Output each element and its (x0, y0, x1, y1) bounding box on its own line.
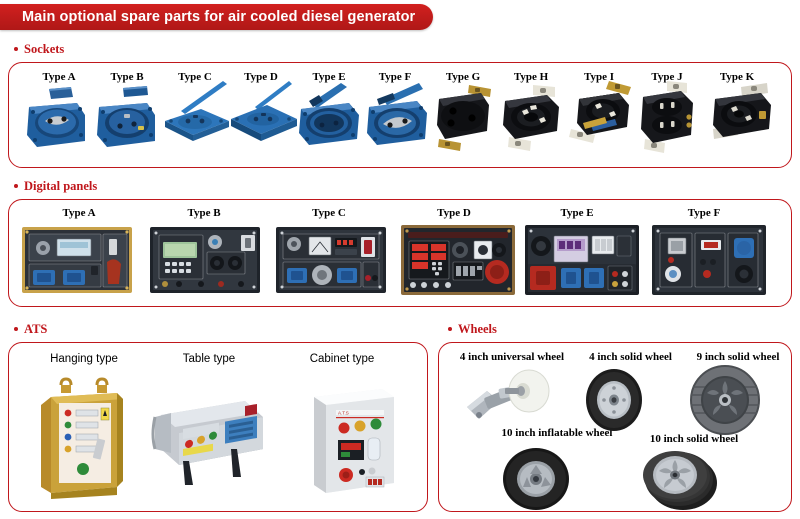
bullet-icon (448, 327, 452, 331)
wheel-image-4-solid (579, 367, 649, 433)
section-heading-digital-panels: Digital panels (14, 179, 97, 194)
panel-label-e: Type E (527, 207, 627, 219)
digital-panel-image-f (651, 224, 767, 296)
section-heading-wheels-label: Wheels (458, 322, 497, 337)
digital-panel-image-e (524, 224, 640, 296)
digital-panel-image-a (21, 226, 133, 294)
socket-label-a: Type A (23, 71, 95, 83)
socket-image-e (291, 81, 369, 157)
panel-label-b: Type B (154, 207, 254, 219)
svg-text:A.T.S: A.T.S (338, 411, 349, 416)
socket-image-i (565, 79, 639, 155)
section-heading-sockets-label: Sockets (24, 42, 64, 57)
wheel-image-9-solid (687, 365, 763, 435)
section-heading-wheels: Wheels (448, 322, 497, 337)
wheel-label-4-universal: 4 inch universal wheel (447, 351, 577, 363)
panel-label-a: Type A (29, 207, 129, 219)
bullet-icon (14, 47, 18, 51)
socket-image-j (633, 79, 705, 157)
wheel-image-4-universal (461, 367, 553, 425)
socket-image-b (89, 85, 165, 157)
section-heading-sockets: Sockets (14, 42, 64, 57)
digital-panel-image-d (400, 224, 516, 296)
sockets-panel: Type A Type B Type C Type D Type E Type … (8, 62, 792, 168)
ats-image-table (149, 387, 269, 487)
ats-label-hanging: Hanging type (29, 353, 139, 365)
ats-image-hanging (39, 377, 135, 499)
section-heading-digital-panels-label: Digital panels (24, 179, 97, 194)
socket-label-b: Type B (91, 71, 163, 83)
section-heading-ats-label: ATS (24, 322, 47, 337)
socket-image-c (157, 81, 235, 157)
socket-image-k (705, 81, 779, 155)
ats-label-cabinet: Cabinet type (287, 353, 397, 365)
wheel-image-10-inflatable (499, 447, 573, 511)
wheel-label-9-solid: 9 inch solid wheel (683, 351, 793, 363)
wheels-panel: 4 inch universal wheel 4 inch solid whee… (438, 342, 792, 512)
socket-image-a (19, 85, 95, 157)
wheel-image-10-solid (639, 451, 721, 511)
panel-label-d: Type D (404, 207, 504, 219)
page-title: Main optional spare parts for air cooled… (22, 9, 415, 25)
socket-image-h (497, 83, 569, 155)
panel-label-c: Type C (279, 207, 379, 219)
socket-label-g: Type G (427, 71, 499, 83)
bullet-icon (14, 327, 18, 331)
panel-label-f: Type F (654, 207, 754, 219)
bullet-icon (14, 184, 18, 188)
ats-label-table: Table type (154, 353, 264, 365)
digital-panels-panel: Type A Type B Type C Type D Type E Type … (8, 199, 792, 307)
socket-label-h: Type H (495, 71, 567, 83)
page-title-banner: Main optional spare parts for air cooled… (0, 4, 433, 30)
socket-image-f (359, 81, 437, 157)
section-heading-ats: ATS (14, 322, 47, 337)
digital-panel-image-b (149, 226, 261, 294)
socket-image-g (429, 83, 501, 155)
ats-image-cabinet: A.T.S (304, 383, 400, 498)
wheel-label-4-solid: 4 inch solid wheel (573, 351, 688, 363)
digital-panel-image-c (275, 226, 387, 294)
ats-panel: Hanging type Table type Cabinet type (8, 342, 428, 512)
